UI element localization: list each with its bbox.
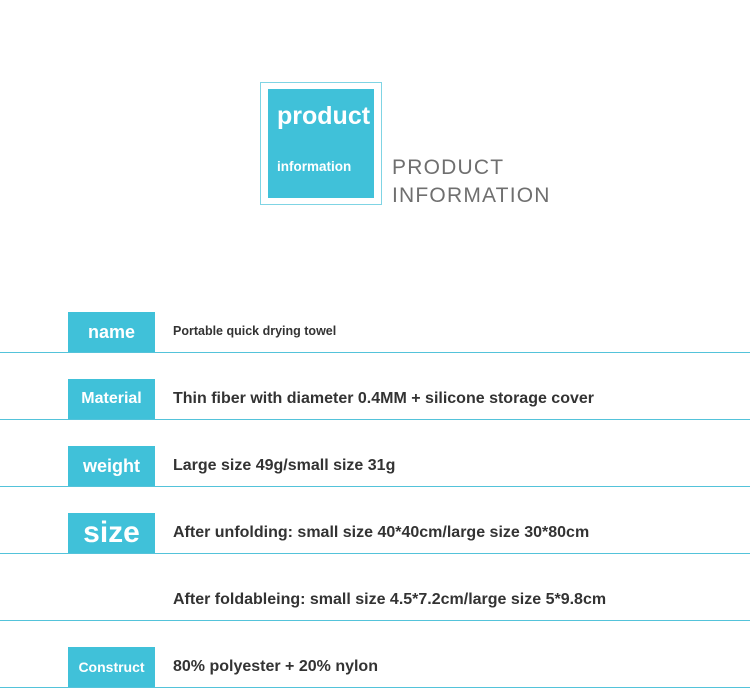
badge-title-primary: product bbox=[277, 104, 370, 129]
page-title-line-2: INFORMATION bbox=[392, 182, 551, 210]
spec-label-material: Material bbox=[68, 379, 155, 419]
table-row: Construct 80% polyester + 20% nylon bbox=[0, 621, 750, 688]
spec-label-name: name bbox=[68, 312, 155, 352]
spec-value-construct: 80% polyester + 20% nylon bbox=[173, 657, 378, 676]
spec-label-weight: weight bbox=[68, 446, 155, 486]
page-title: PRODUCT INFORMATION bbox=[392, 154, 551, 210]
spec-value-material: Thin fiber with diameter 0.4MM + silicon… bbox=[173, 389, 594, 408]
page-title-line-1: PRODUCT bbox=[392, 154, 551, 182]
spec-label-size: size bbox=[68, 513, 155, 553]
table-row: After foldableing: small size 4.5*7.2cm/… bbox=[0, 554, 750, 621]
table-row: size After unfolding: small size 40*40cm… bbox=[0, 487, 750, 554]
spec-value-name: Portable quick drying towel bbox=[173, 324, 336, 339]
spec-label-construct: Construct bbox=[68, 647, 155, 687]
table-row: weight Large size 49g/small size 31g bbox=[0, 420, 750, 487]
table-row: name Portable quick drying towel bbox=[0, 286, 750, 353]
spec-value-weight: Large size 49g/small size 31g bbox=[173, 456, 395, 475]
header-block: product information PRODUCT INFORMATION bbox=[0, 0, 750, 290]
spec-value-size-unfolded: After unfolding: small size 40*40cm/larg… bbox=[173, 523, 589, 542]
specification-table: name Portable quick drying towel Materia… bbox=[0, 286, 750, 688]
badge-title-secondary: information bbox=[277, 160, 351, 174]
spec-value-size-folded: After foldableing: small size 4.5*7.2cm/… bbox=[173, 590, 606, 609]
table-row: Material Thin fiber with diameter 0.4MM … bbox=[0, 353, 750, 420]
